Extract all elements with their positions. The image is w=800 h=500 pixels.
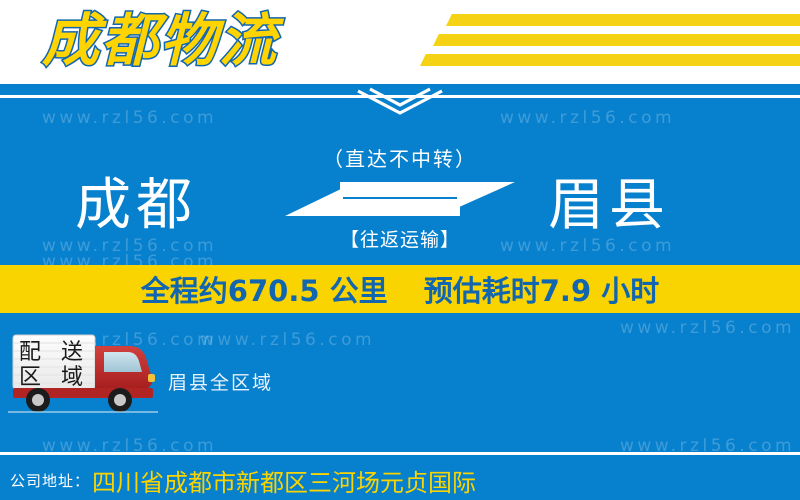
duration-value: 7.9 (540, 274, 591, 308)
distance-info-text: 全程约670.5 公里 预估耗时7.9 小时 (141, 268, 659, 310)
watermark-text: www.rzl56.com (620, 318, 795, 338)
distance-value: 670.5 (228, 274, 320, 308)
distance-label: 全程约 (141, 274, 228, 308)
stripe-3 (420, 54, 800, 66)
svg-text:送: 送 (61, 340, 83, 365)
company-address-value: 四川省成都市新都区三河场元贞国际 (92, 463, 476, 498)
delivery-area-text: 眉县全区域 (168, 368, 273, 395)
watermark-text: www.rzl56.com (500, 108, 675, 128)
logo-title: 成都物流 (42, 6, 278, 76)
stripe-2 (433, 34, 800, 46)
watermark-text: www.rzl56.com (42, 108, 217, 128)
double-chevron-down-icon (342, 85, 458, 115)
footer-divider-line (0, 452, 800, 455)
duration-label: 预估耗时 (424, 274, 540, 308)
header-bar: 成都物流 (0, 0, 800, 84)
duration-unit: 小时 (591, 274, 659, 308)
stripe-1 (446, 14, 800, 26)
distance-unit: 公里 (320, 274, 388, 308)
watermark-text: www.rzl56.com (200, 330, 375, 350)
svg-text:配: 配 (19, 340, 41, 365)
svg-text:域: 域 (61, 365, 83, 390)
footer-bar: 公司地址： 四川省成都市新都区三河场元贞国际 (0, 460, 800, 500)
header-stripes-decoration (398, 12, 800, 72)
delivery-truck-icon: 配 送 区 域 (8, 332, 160, 414)
bidirectional-arrow-icon (285, 176, 515, 220)
company-address-label: 公司地址： (10, 470, 90, 491)
distance-info-band: 全程约670.5 公里 预估耗时7.9 小时 (0, 265, 800, 313)
svg-text:区: 区 (19, 365, 41, 390)
round-trip-note: 【往返运输】 (0, 225, 800, 252)
direct-shipping-note: （直达不中转） (0, 143, 800, 172)
poster-canvas: www.rzl56.comwww.rzl56.comwww.rzl56.comw… (0, 0, 800, 500)
